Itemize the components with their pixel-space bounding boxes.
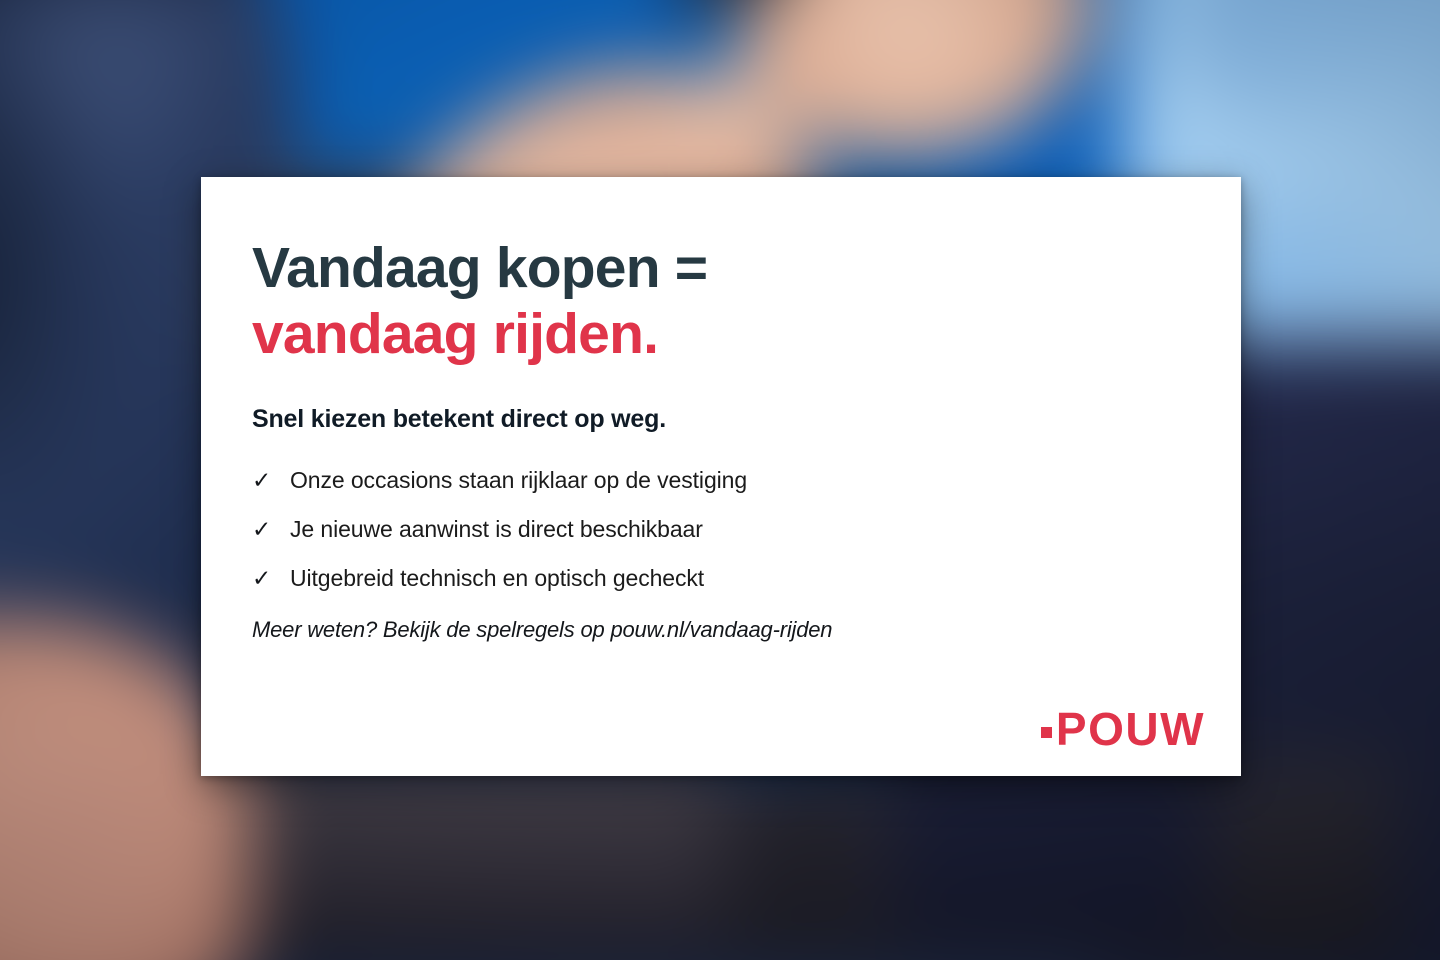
subheadline: Snel kiezen betekent direct op weg. bbox=[252, 405, 1241, 434]
list-item-label: Je nieuwe aanwinst is direct beschikbaar bbox=[290, 516, 703, 543]
checkmark-icon: ✓ bbox=[252, 565, 290, 592]
list-item: ✓ Uitgebreid technisch en optisch gechec… bbox=[252, 565, 1241, 592]
headline-line-1: Vandaag kopen = bbox=[252, 235, 1241, 301]
list-item: ✓ Je nieuwe aanwinst is direct beschikba… bbox=[252, 516, 1241, 543]
promo-card: Vandaag kopen = vandaag rijden. Snel kie… bbox=[201, 177, 1241, 776]
checkmark-icon: ✓ bbox=[252, 467, 290, 494]
list-item-label: Uitgebreid technisch en optisch gecheckt bbox=[290, 565, 704, 592]
list-item-label: Onze occasions staan rijklaar op de vest… bbox=[290, 467, 747, 494]
advertisement-banner: Vandaag kopen = vandaag rijden. Snel kie… bbox=[0, 0, 1440, 960]
headline: Vandaag kopen = vandaag rijden. bbox=[252, 235, 1241, 367]
headline-line-2: vandaag rijden. bbox=[252, 301, 1241, 367]
checkmark-icon: ✓ bbox=[252, 516, 290, 543]
logo-dot-icon bbox=[1041, 727, 1052, 738]
logo-wordmark: POUW bbox=[1056, 706, 1205, 752]
pouw-logo: POUW bbox=[1041, 706, 1205, 752]
footnote-link-text[interactable]: Meer weten? Bekijk de spelregels op pouw… bbox=[252, 617, 1241, 643]
benefit-list: ✓ Onze occasions staan rijklaar op de ve… bbox=[252, 467, 1241, 592]
list-item: ✓ Onze occasions staan rijklaar op de ve… bbox=[252, 467, 1241, 494]
